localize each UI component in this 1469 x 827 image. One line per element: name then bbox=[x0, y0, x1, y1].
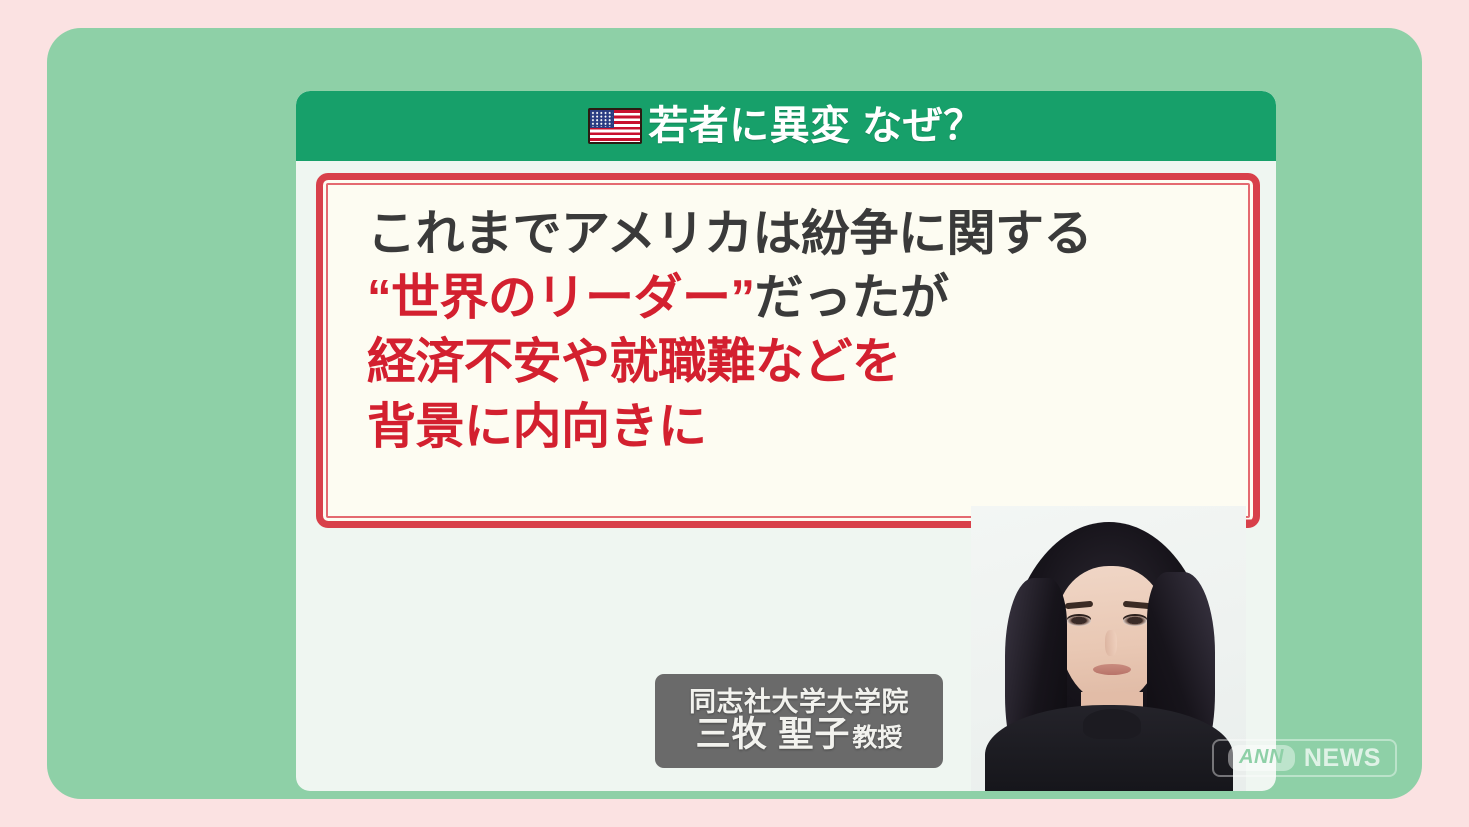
background-panel: 若者に異変 なぜ？ これまでアメリカは紛争に関する “世界のリーダー”だったが … bbox=[47, 28, 1422, 799]
header-title: 若者に異変 なぜ？ bbox=[648, 106, 984, 146]
news-wordmark: NEWS bbox=[1304, 746, 1381, 771]
ann-news-watermark: ANN NEWS bbox=[1212, 739, 1397, 777]
portrait-collar bbox=[1083, 709, 1141, 739]
quote-line-2-highlight: “世界のリーダー” bbox=[367, 271, 755, 325]
news-graphic-card: 若者に異変 なぜ？ これまでアメリカは紛争に関する “世界のリーダー”だったが … bbox=[296, 91, 1276, 791]
speaker-name: 三牧 聖子 bbox=[696, 717, 851, 754]
ann-logo-badge: ANN bbox=[1228, 745, 1295, 770]
quote-line-2-tail: だったが bbox=[755, 271, 949, 325]
speaker-portrait bbox=[971, 506, 1246, 791]
quote-line-1: これまでアメリカは紛争に関する bbox=[367, 202, 1233, 266]
quote-text-block: これまでアメリカは紛争に関する “世界のリーダー”だったが 経済不安や就職難など… bbox=[367, 202, 1233, 459]
portrait-mouth bbox=[1093, 664, 1131, 675]
portrait-eye-left bbox=[1067, 616, 1091, 626]
card-header: 若者に異変 なぜ？ bbox=[296, 91, 1276, 161]
flag-canton bbox=[590, 110, 614, 128]
speaker-affiliation: 同志社大学大学院 bbox=[689, 688, 909, 717]
speaker-name-row: 三牧 聖子 教授 bbox=[696, 717, 903, 754]
quote-line-2: “世界のリーダー”だったが bbox=[367, 266, 1233, 330]
portrait-eye-right bbox=[1123, 616, 1147, 626]
quote-line-4: 背景に内向きに bbox=[367, 395, 1233, 459]
portrait-nose bbox=[1105, 630, 1117, 656]
speaker-name-plate: 同志社大学大学院 三牧 聖子 教授 bbox=[655, 674, 943, 768]
quote-line-3: 経済不安や就職難などを bbox=[367, 330, 1233, 394]
us-flag-icon bbox=[588, 108, 642, 144]
speaker-title: 教授 bbox=[852, 725, 902, 751]
quote-speech-bubble: これまでアメリカは紛争に関する “世界のリーダー”だったが 経済不安や就職難など… bbox=[316, 173, 1260, 528]
